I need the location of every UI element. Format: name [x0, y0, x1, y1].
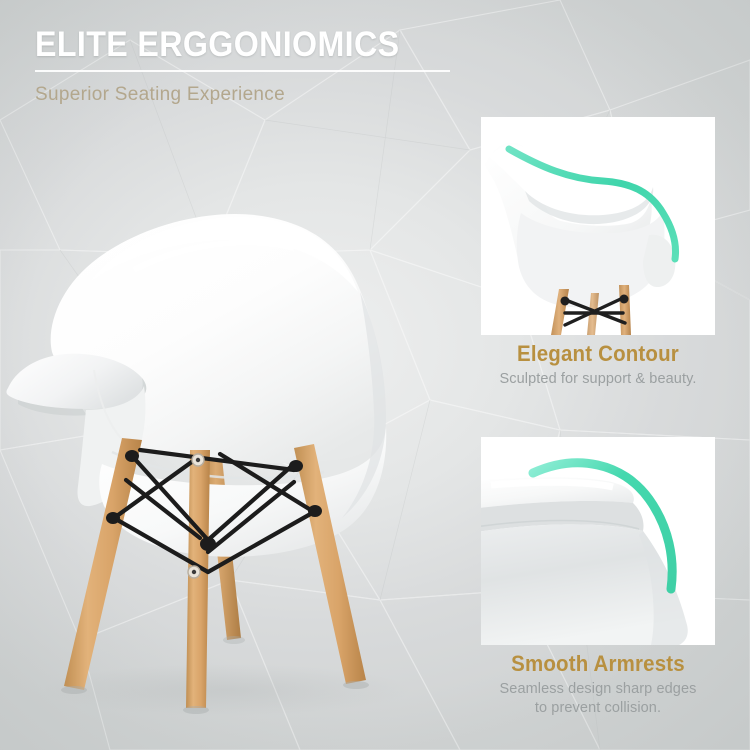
feature-caption-smooth-armrests: Smooth Armrests Seamless design sharp ed… — [471, 651, 725, 718]
header: ELITE ERGGONIOMICS Superior Seating Expe… — [35, 26, 465, 106]
title-divider — [35, 70, 450, 72]
hero-product-image — [0, 120, 434, 730]
feature-title-smooth-armrests: Smooth Armrests — [480, 651, 716, 677]
feature-image-elegant-contour — [481, 117, 715, 335]
feature-title-elegant-contour: Elegant Contour — [480, 341, 716, 367]
feature-image-smooth-armrests — [481, 437, 715, 645]
feature-desc-line: to prevent collision. — [471, 699, 725, 718]
feature-description-elegant-contour: Sculpted for support & beauty. — [471, 370, 725, 389]
feature-desc-line: Sculpted for support & beauty. — [471, 370, 725, 389]
product-marketing-banner: ELITE ERGGONIOMICS Superior Seating Expe… — [0, 0, 750, 750]
page-title: ELITE ERGGONIOMICS — [35, 26, 431, 64]
feature-description-smooth-armrests: Seamless design sharp edges to prevent c… — [471, 680, 725, 718]
page-subtitle: Superior Seating Experience — [35, 84, 465, 106]
feature-desc-line: Seamless design sharp edges — [471, 680, 725, 699]
feature-caption-elegant-contour: Elegant Contour Sculpted for support & b… — [471, 341, 725, 389]
